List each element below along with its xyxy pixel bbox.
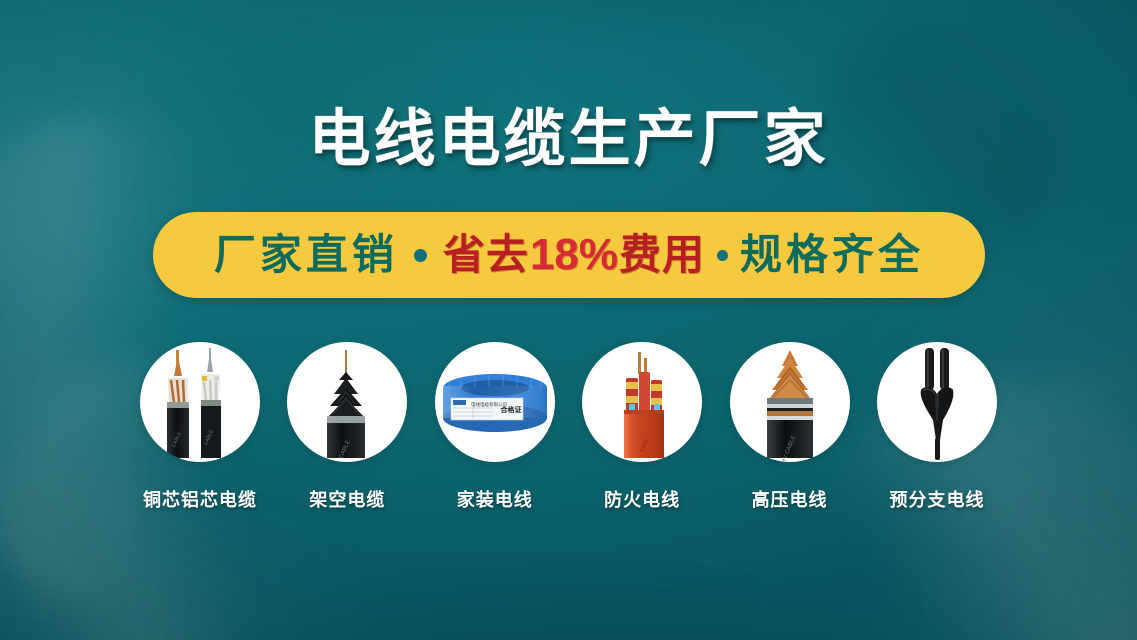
product-list: CABLE CABLE — [140, 342, 997, 512]
product-item[interactable]: 预分支电线 — [877, 342, 997, 512]
product-label: 防火电线 — [582, 486, 702, 512]
product-image-fireproof-cable: FIRE — [582, 342, 702, 462]
promo-highlight: 省去18%费用 — [443, 233, 705, 277]
product-item[interactable]: CABLE CABLE — [140, 342, 260, 512]
product-item[interactable]: HV CABLE 高压电线 — [730, 342, 850, 512]
product-image-high-voltage-cable: HV CABLE — [730, 342, 850, 462]
product-label: 家装电线 — [435, 486, 555, 512]
product-image-home-wiring-coil: 电线电缆有限公司 合格证 — [435, 342, 555, 462]
promo-banner-stage: 电线电缆生产厂家 厂家直销 省去18%费用 规格齐全 — [0, 0, 1137, 640]
product-item[interactable]: CABLE 架空电缆 — [287, 342, 407, 512]
product-label: 架空电缆 — [287, 486, 407, 512]
promo-highlight-prefix: 省去 — [443, 234, 529, 276]
separator-dot-right-icon — [717, 250, 728, 261]
product-image-wrap[interactable]: 电线电缆有限公司 合格证 家装电线 — [435, 342, 555, 512]
svg-text:合格证: 合格证 — [499, 405, 521, 414]
product-label: 预分支电线 — [877, 486, 997, 512]
promo-highlight-percent: 18% — [529, 233, 619, 277]
promo-pill-banner: 厂家直销 省去18%费用 规格齐全 — [153, 212, 985, 298]
background-vignette — [0, 0, 1137, 640]
promo-right-text: 规格齐全 — [740, 234, 924, 276]
promo-pill-content: 厂家直销 省去18%费用 规格齐全 — [214, 233, 924, 277]
promo-left-text: 厂家直销 — [214, 234, 398, 276]
promo-highlight-suffix: 费用 — [619, 234, 705, 276]
product-item[interactable]: FIRE 防火电线 — [582, 342, 702, 512]
product-label: 高压电线 — [730, 486, 850, 512]
product-image-overhead-cable: CABLE — [287, 342, 407, 462]
product-image-pre-branch-cable — [877, 342, 997, 462]
headline-title: 电线电缆生产厂家 — [0, 104, 1137, 176]
product-label: 铜芯铝芯电缆 — [140, 486, 260, 512]
separator-dot-left-icon — [414, 249, 427, 262]
product-image-copper-aluminum-core-cable: CABLE CABLE — [140, 342, 260, 462]
